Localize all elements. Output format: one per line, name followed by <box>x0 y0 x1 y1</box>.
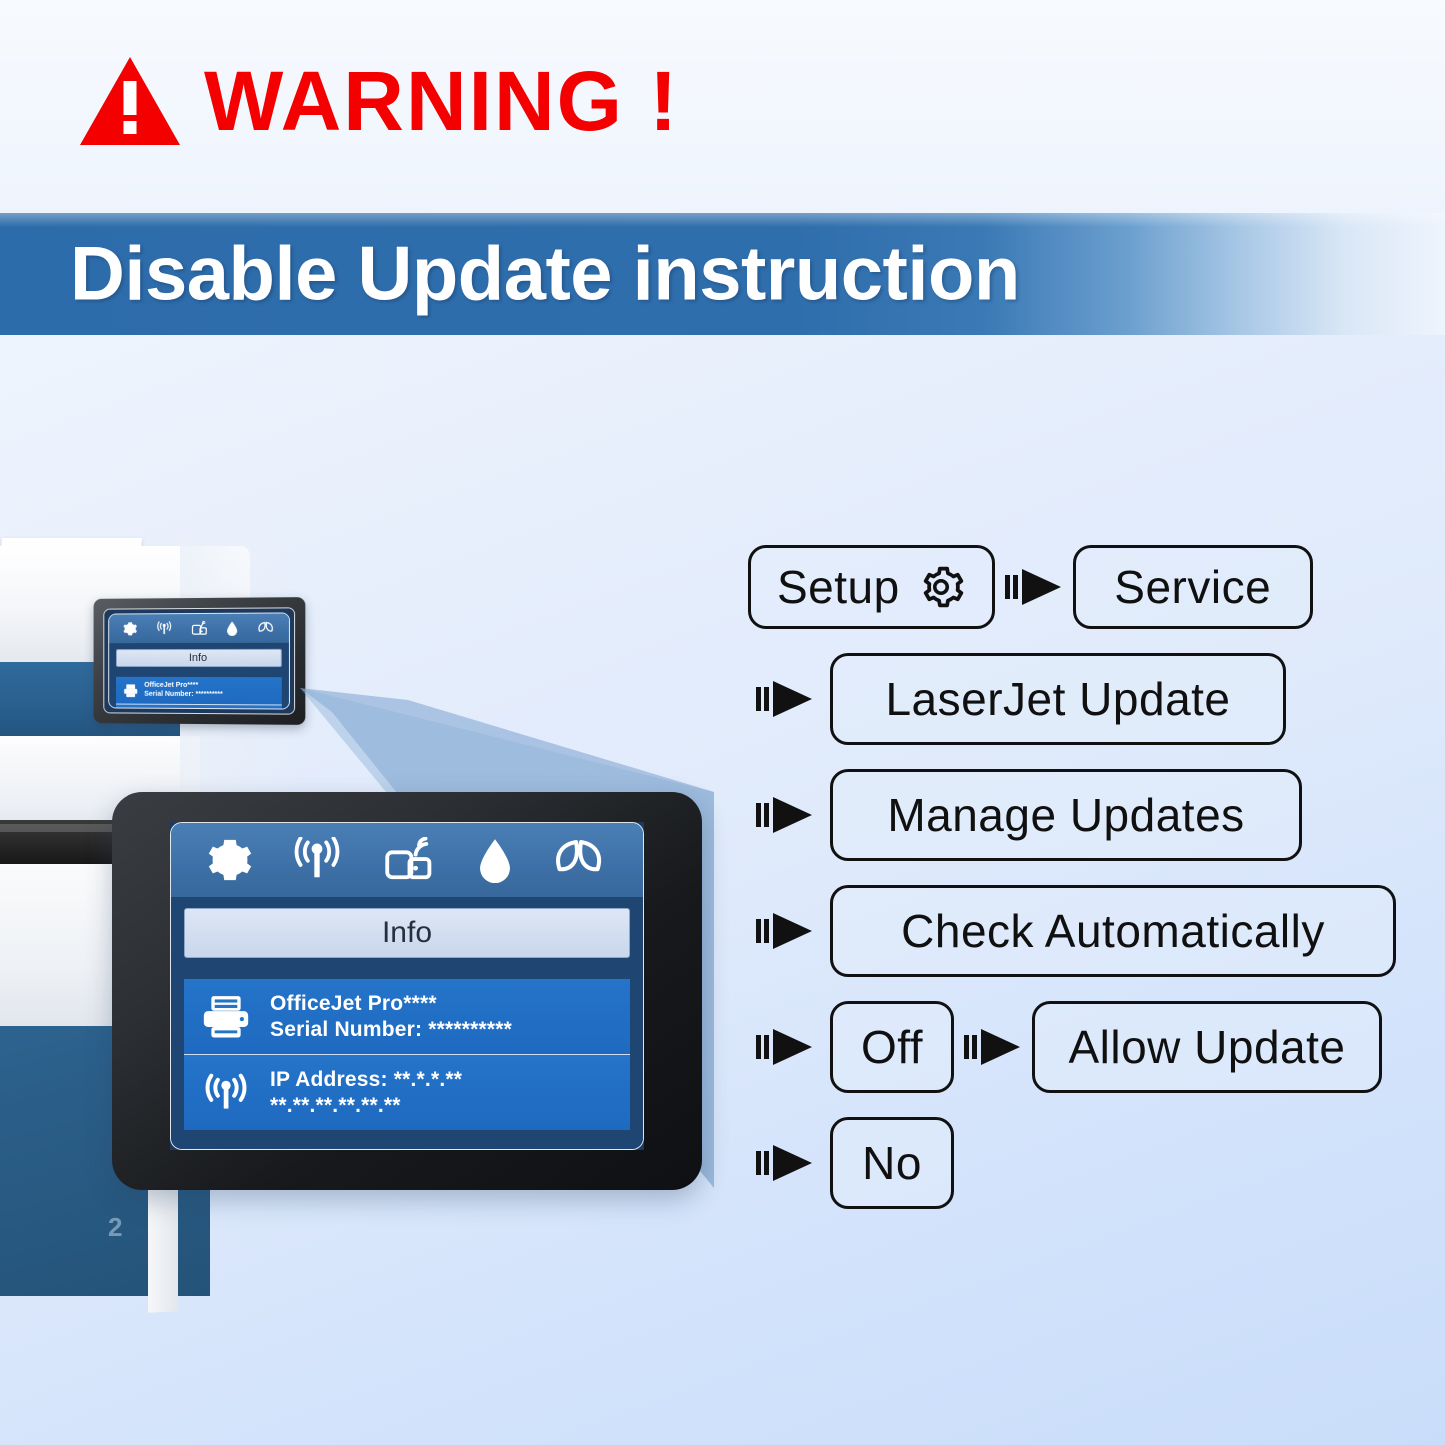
lcd-large-row-network[interactable]: IP Address: **.*.*.** **.**.**.**.**.** <box>184 1054 630 1130</box>
flow-label-allow-update: Allow Update <box>1068 1020 1345 1074</box>
flow-box-manage-updates[interactable]: Manage Updates <box>830 769 1302 861</box>
flow-label-laserjet-update: LaserJet Update <box>885 672 1230 726</box>
flow-label-setup: Setup <box>777 560 900 614</box>
lcd-small-rows: OfficeJet Pro**** Serial Number: *******… <box>109 672 289 710</box>
lcd-large-printer-text: OfficeJet Pro**** Serial Number: *******… <box>270 991 512 1042</box>
flow-label-service: Service <box>1114 560 1271 614</box>
lcd-small-serial: Serial Number: ********** <box>144 691 223 700</box>
flow-row-2: LaserJet Update <box>754 653 1408 745</box>
flow-box-no[interactable]: No <box>830 1117 954 1209</box>
gear-icon[interactable] <box>207 837 253 883</box>
double-bar-arrow-right-icon <box>754 903 816 959</box>
lcd-small-inner: Info OfficeJet Pro**** <box>108 612 290 710</box>
flow-row-4: Check Automatically <box>754 885 1408 977</box>
wireless-direct-icon[interactable] <box>382 837 440 883</box>
gear-icon[interactable] <box>123 621 138 636</box>
lcd-small-row-network[interactable]: IP Address: **.*.*.** **.**.**.**.**.** <box>116 704 282 710</box>
flow-box-off[interactable]: Off <box>830 1001 954 1093</box>
flow-box-service[interactable]: Service <box>1073 545 1313 629</box>
wireless-direct-icon[interactable] <box>191 621 209 636</box>
wireless-antenna-icon <box>200 1070 252 1116</box>
flow-row-3: Manage Updates <box>754 769 1408 861</box>
wireless-antenna-icon[interactable] <box>288 837 346 883</box>
warning-label: WARNING ! <box>204 59 679 143</box>
lcd-large-info-wrap: Info <box>171 897 643 969</box>
flow-label-off: Off <box>861 1020 923 1074</box>
printer-tray-number: 2 <box>108 1212 122 1243</box>
flow-box-check-automatically[interactable]: Check Automatically <box>830 885 1396 977</box>
flow-label-manage-updates: Manage Updates <box>887 788 1244 842</box>
double-bar-arrow-right-icon <box>1003 559 1065 615</box>
printer-lcd-large[interactable]: Info <box>170 822 644 1150</box>
lcd-large-rows: OfficeJet Pro**** Serial Number: *******… <box>171 969 643 1149</box>
flow-row-1: Setup Service <box>748 545 1408 629</box>
lcd-large-model: OfficeJet Pro**** <box>270 991 512 1017</box>
lcd-large-network-text: IP Address: **.*.*.** **.**.**.**.**.** <box>270 1067 462 1118</box>
flow-box-laserjet-update[interactable]: LaserJet Update <box>830 653 1286 745</box>
lcd-small-model: OfficeJet Pro**** <box>144 682 223 691</box>
warning-header: WARNING ! <box>78 55 679 147</box>
printer-icon <box>200 994 252 1040</box>
printer-icon <box>122 684 138 698</box>
printer-control-panel-large[interactable]: Info <box>112 792 702 1190</box>
title-banner: Disable Update instruction <box>0 213 1445 335</box>
printer-control-panel-small[interactable]: Info OfficeJet Pro**** <box>94 597 306 725</box>
ink-drop-icon[interactable] <box>476 837 514 883</box>
eco-leaf-icon[interactable] <box>549 837 607 883</box>
flow-row-5: Off Allow Update <box>754 1001 1408 1093</box>
flow-label-check-automatically: Check Automatically <box>901 904 1325 958</box>
lcd-small-row-printer[interactable]: OfficeJet Pro**** Serial Number: *******… <box>116 677 282 705</box>
double-bar-arrow-right-icon <box>754 787 816 843</box>
lcd-large-mac: **.**.**.**.**.** <box>270 1093 462 1119</box>
banner-highlight <box>0 213 1445 227</box>
printer-lcd-small[interactable]: Info OfficeJet Pro**** <box>103 607 295 714</box>
flow-row-6: No <box>754 1117 1408 1209</box>
lcd-large-icon-bar <box>171 823 643 897</box>
lcd-large-info-label[interactable]: Info <box>184 908 630 958</box>
lcd-small-info-wrap: Info <box>109 643 289 672</box>
ink-drop-icon[interactable] <box>226 621 238 636</box>
lcd-large-inner: Info <box>170 822 644 1150</box>
eco-leaf-icon[interactable] <box>256 621 274 636</box>
lcd-large-ip: IP Address: **.*.*.** <box>270 1067 462 1093</box>
instruction-flow: Setup Service Lase <box>748 545 1408 1233</box>
lcd-large-row-printer[interactable]: OfficeJet Pro**** Serial Number: *******… <box>184 979 630 1054</box>
lcd-small-icon-bar <box>109 613 289 643</box>
wireless-antenna-icon[interactable] <box>155 621 173 636</box>
double-bar-arrow-right-icon <box>962 1019 1024 1075</box>
double-bar-arrow-right-icon <box>754 1135 816 1191</box>
gear-outline-icon <box>916 562 966 612</box>
lcd-small-info-label[interactable]: Info <box>116 648 282 666</box>
warning-triangle-icon <box>78 55 182 147</box>
lcd-large-content: Info <box>170 822 644 1150</box>
page-title: Disable Update instruction <box>70 231 1020 318</box>
poster-canvas: WARNING ! Disable Update instruction 2 <box>0 0 1445 1445</box>
flow-label-no: No <box>862 1136 922 1190</box>
flow-box-allow-update[interactable]: Allow Update <box>1032 1001 1382 1093</box>
lcd-large-serial: Serial Number: ********** <box>270 1017 512 1043</box>
lcd-small-content: Info OfficeJet Pro**** <box>104 608 294 713</box>
flow-box-setup[interactable]: Setup <box>748 545 995 629</box>
double-bar-arrow-right-icon <box>754 671 816 727</box>
double-bar-arrow-right-icon <box>754 1019 816 1075</box>
